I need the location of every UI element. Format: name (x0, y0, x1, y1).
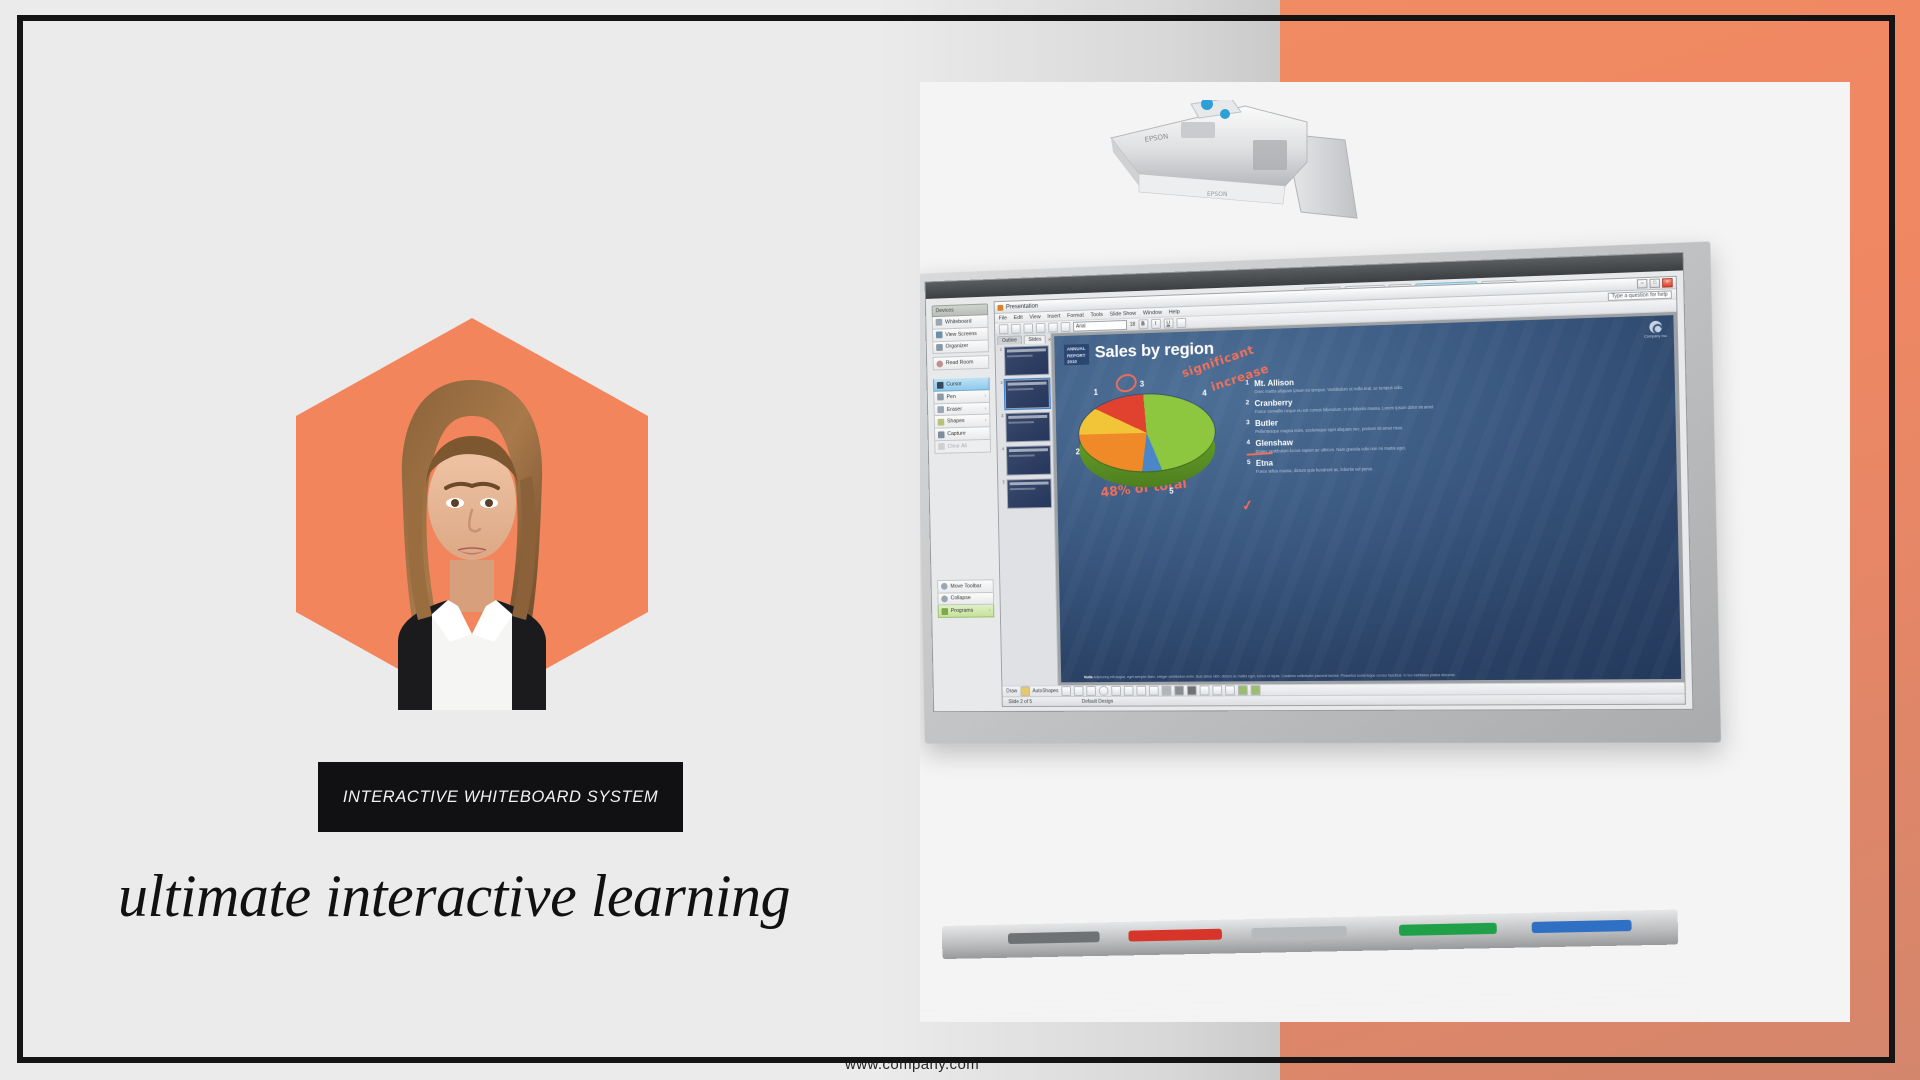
footnote-label: Nulla (1084, 675, 1093, 679)
eyebrow-label: INTERACTIVE WHITEBOARD SYSTEM (318, 762, 683, 832)
pie-label-4: 4 (1202, 389, 1207, 398)
legend-name: Butler (1255, 419, 1278, 429)
rail-move-toolbar[interactable]: Move Toolbar (937, 579, 994, 593)
shapes-icon (938, 419, 945, 426)
legend-name: Cranberry (1255, 398, 1293, 408)
tool-label: Cursor (946, 381, 962, 387)
presentation-app-window: Presentation – □ × File Edit View Insert… (994, 276, 1686, 707)
legend-number: 3 (1246, 419, 1251, 434)
thumbnail-number: 5 (1000, 480, 1005, 485)
screens-icon (936, 332, 943, 339)
autoshapes-menu[interactable]: AutoShapes (1032, 688, 1058, 694)
slide-counter: Slide 2 of 5 (1008, 699, 1032, 705)
rectangle-icon[interactable] (1086, 686, 1096, 696)
interactive-whiteboard: SE002 475321 1 Stop Sharing 1 (920, 258, 1705, 743)
tool-label: Clear All (948, 443, 967, 449)
logo-icon (1649, 321, 1662, 334)
list-item[interactable]: 3 (999, 412, 1051, 443)
insert-picture-icon[interactable] (1149, 686, 1159, 696)
annual-report-badge: ANNUAL REPORT 2010 (1064, 344, 1089, 365)
rail-spacer (935, 452, 994, 580)
thumbnail-image (1007, 478, 1052, 508)
underline-icon[interactable]: U (1163, 318, 1173, 328)
legend-number: 4 (1246, 439, 1251, 454)
draw-menu[interactable]: Draw (1006, 688, 1017, 694)
line-style-icon[interactable] (1199, 685, 1209, 695)
line-color-icon[interactable] (1174, 686, 1184, 696)
menu-tools[interactable]: Tools (1090, 311, 1102, 317)
legend-name: Glenshaw (1255, 438, 1293, 448)
legend-name: Etna (1256, 459, 1273, 468)
kicker-line-3: 2010 (1067, 359, 1087, 366)
page-title: ultimate interactive learning (118, 862, 938, 931)
tool-label: Shapes (947, 419, 965, 425)
chevron-right-icon: › (989, 608, 991, 614)
menu-view[interactable]: View (1029, 314, 1040, 320)
rail-item-label: View Screens (945, 331, 977, 338)
thumbnail-number: 1 (997, 347, 1002, 352)
app-body: Outline Slides × 1 2 (995, 312, 1684, 686)
list-item[interactable]: 4 (999, 445, 1051, 476)
menu-help[interactable]: Help (1169, 309, 1180, 315)
legend-number: 5 (1247, 459, 1252, 474)
rail-item-label: Whiteboard (945, 319, 972, 326)
arrow-icon[interactable] (1074, 686, 1084, 696)
open-icon[interactable] (1011, 323, 1021, 333)
minimize-button[interactable]: – (1637, 279, 1648, 289)
slides-pane: Outline Slides × 1 2 (995, 333, 1058, 685)
italic-icon[interactable]: I (1151, 318, 1161, 328)
rail-item-label: Organizer (945, 344, 968, 351)
save-icon[interactable] (1023, 323, 1033, 333)
thumbnail-image (1004, 345, 1049, 376)
thumbnail-image (1005, 379, 1050, 410)
company-name: Company Inc. (1644, 334, 1667, 339)
pen-black[interactable] (1008, 931, 1100, 944)
pie-label-1: 1 (1094, 388, 1098, 397)
legend-name: Mt. Allison (1254, 378, 1294, 388)
legend-item: 5 Etna Fusce tellus massa, dictum quis h… (1247, 449, 1670, 473)
dash-style-icon[interactable] (1212, 685, 1222, 695)
redo-icon[interactable] (1061, 321, 1071, 331)
thumbnail-number: 4 (999, 446, 1004, 451)
whiteboard-screen: SE002 475321 1 Stop Sharing 1 (925, 252, 1694, 712)
thumbnail-number: 2 (998, 380, 1003, 385)
eraser-block[interactable] (1251, 926, 1347, 939)
new-icon[interactable] (999, 324, 1009, 334)
pen-red[interactable] (1128, 929, 1222, 942)
capture-icon (938, 431, 945, 438)
pie-label-3: 3 (1140, 380, 1144, 389)
pie-label-2: 2 (1076, 447, 1080, 456)
design-name: Default Design (1082, 698, 1114, 704)
font-color-icon[interactable] (1187, 686, 1197, 696)
legend-number: 2 (1246, 399, 1251, 414)
3d-style-icon[interactable] (1251, 685, 1261, 695)
menu-insert[interactable]: Insert (1047, 313, 1060, 319)
pen-green[interactable] (1399, 923, 1497, 936)
pen-blue[interactable] (1532, 920, 1632, 933)
arrow-style-icon[interactable] (1225, 685, 1235, 695)
clear-icon (938, 443, 945, 450)
pie-chart: 1 2 3 4 5 (1078, 386, 1216, 498)
thumbnail-image (1005, 412, 1050, 443)
menu-format[interactable]: Format (1067, 312, 1084, 318)
programs-icon (941, 608, 948, 615)
chart-legend: 1 Mt. Allison Onec mattis aliquam ipsum … (1245, 367, 1670, 479)
app-title-text: Presentation (1006, 303, 1038, 310)
menu-window[interactable]: Window (1143, 309, 1162, 316)
shadow-style-icon[interactable] (1238, 685, 1248, 695)
annotation-checkmark: ✓ (1241, 496, 1255, 515)
bold-icon[interactable]: B (1138, 319, 1148, 329)
diagram-icon[interactable] (1136, 686, 1146, 696)
presenter-portrait (362, 370, 582, 710)
font-name-input[interactable]: Arial (1073, 319, 1127, 331)
presentation-slide[interactable]: ANNUAL REPORT 2010 Sales by region Compa… (1054, 315, 1681, 682)
chevron-right-icon: › (984, 393, 986, 399)
ellipse-icon[interactable] (1099, 686, 1109, 696)
rail-collapse[interactable]: Collapse (937, 593, 994, 606)
shadow-icon[interactable] (1176, 317, 1186, 327)
window-controls: – □ × (1637, 278, 1673, 289)
rail-item-label: Collapse (951, 596, 971, 602)
pie-label-5: 5 (1169, 487, 1174, 496)
menu-edit[interactable]: Edit (1014, 314, 1023, 320)
close-button[interactable]: × (1662, 278, 1673, 288)
company-logo: Company Inc. (1644, 320, 1668, 338)
fill-color-icon[interactable] (1161, 686, 1171, 696)
rail-item-organizer[interactable]: Organizer (932, 340, 989, 354)
svg-text:EPSON: EPSON (1207, 191, 1227, 198)
menu-file[interactable]: File (999, 315, 1008, 321)
list-item[interactable]: 2 (998, 379, 1050, 410)
line-icon[interactable] (1061, 686, 1071, 696)
room-icon (936, 360, 943, 367)
menu-slide-show[interactable]: Slide Show (1110, 310, 1137, 317)
slide-thumbnail-list: 1 2 3 (995, 343, 1057, 685)
help-search-input[interactable]: Type a question for help (1607, 290, 1672, 301)
organizer-icon (936, 344, 943, 351)
autoshapes-icon[interactable] (1020, 686, 1030, 696)
chevron-right-icon: › (985, 418, 987, 424)
move-icon (941, 583, 948, 590)
app-statusbar: Slide 2 of 5 Default Design (1003, 693, 1685, 706)
whiteboard-toolbar: Devices Whiteboard View Screens Organize… (932, 303, 995, 618)
footer-url: www.company.com (845, 1056, 979, 1073)
rail-item-label: Programs (951, 608, 974, 614)
wordart-icon[interactable] (1124, 686, 1134, 696)
eyebrow-label-text: INTERACTIVE WHITEBOARD SYSTEM (343, 786, 658, 808)
rail-programs[interactable]: Programs › (938, 605, 995, 618)
legend-desc: Fusce tellus massa, dictum quis hendreri… (1256, 466, 1373, 474)
projector-device: EPSON EPSON (1095, 100, 1380, 230)
collapse-icon (941, 595, 948, 602)
tool-label: Eraser (947, 406, 962, 412)
cursor-icon (937, 381, 944, 388)
slide-stage: ANNUAL REPORT 2010 Sales by region Compa… (1051, 312, 1684, 685)
pen-icon (937, 394, 944, 401)
print-icon[interactable] (1036, 322, 1046, 332)
app-icon (997, 304, 1003, 310)
list-item[interactable]: 5 (1000, 478, 1052, 508)
eraser-icon (937, 406, 944, 413)
font-size-value[interactable]: 18 (1130, 321, 1136, 327)
rail-item-label: Move Toolbar (950, 583, 981, 589)
tool-label: Pen (947, 394, 956, 400)
maximize-button[interactable]: □ (1649, 278, 1660, 288)
thumbnail-image (1006, 445, 1051, 475)
whiteboard-software: SE002 475321 1 Stop Sharing 1 (926, 253, 1693, 711)
textbox-icon[interactable] (1111, 686, 1121, 696)
portrait-hexagon (296, 318, 648, 710)
whiteboard-icon (936, 319, 943, 326)
product-photo-card: EPSON EPSON SE002 475321 (920, 82, 1850, 1022)
tool-label: Capture (947, 431, 966, 437)
chevron-right-icon: › (985, 405, 987, 411)
undo-icon[interactable] (1048, 322, 1058, 332)
list-item[interactable]: 1 (997, 345, 1049, 376)
slide-title: Sales by region (1095, 339, 1214, 363)
thumbnail-number: 3 (999, 413, 1004, 418)
rail-item-label: Read Room (946, 360, 974, 367)
legend-number: 1 (1245, 379, 1250, 394)
